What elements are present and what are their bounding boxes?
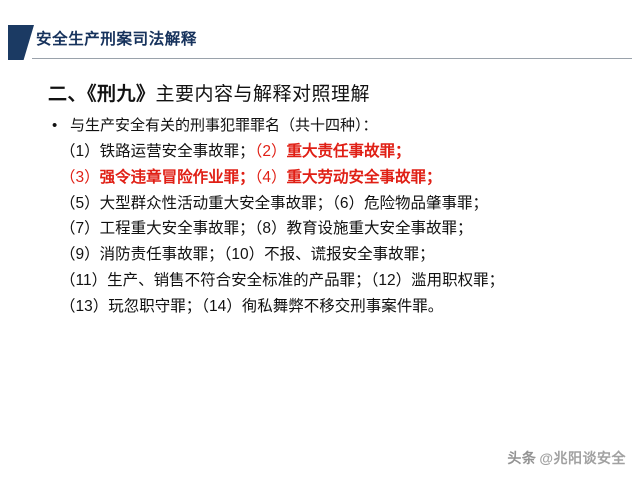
- watermark: 头条@兆阳谈安全: [507, 448, 626, 468]
- slide-body: 二、《刑九》主要内容与解释对照理解 •与生产安全有关的刑事犯罪罪名（共十四种）：…: [0, 82, 640, 320]
- crime-list-segment: （5）大型群众性活动重大安全事故罪；（6）危险物品肇事罪；: [60, 195, 488, 212]
- section-heading-strong: 二、《刑九》: [48, 84, 156, 105]
- crime-list-line: （9）消防责任事故罪；（10）不报、谎报安全事故罪；: [60, 242, 640, 268]
- watermark-handle: @兆阳谈安全: [539, 450, 626, 466]
- crime-list-segment: （3）: [60, 169, 100, 186]
- section-heading: 二、《刑九》主要内容与解释对照理解: [48, 82, 640, 108]
- crime-list-segment: （9）消防责任事故罪；（10）不报、谎报安全事故罪；: [60, 246, 435, 263]
- bullet-item: •与生产安全有关的刑事犯罪罪名（共十四种）：: [52, 114, 640, 138]
- crime-list-segment: （4）: [255, 169, 287, 186]
- crime-list-line: （3）强令违章冒险作业罪；（4）重大劳动安全事故罪；: [60, 165, 640, 191]
- slide-header-title: 安全生产刑案司法解释: [36, 27, 197, 49]
- crime-list-line: （7）工程重大安全事故罪；（8）教育设施重大安全事故罪；: [60, 216, 640, 242]
- crime-list-segment: （1）铁路运营安全事故罪；: [60, 143, 255, 160]
- watermark-logo: 头条: [507, 450, 536, 466]
- crime-list-segment: （2）: [255, 143, 287, 160]
- slide-canvas: 安全生产刑案司法解释 二、《刑九》主要内容与解释对照理解 •与生产安全有关的刑事…: [0, 0, 640, 480]
- crime-list-segment: 重大劳动安全事故罪；: [287, 169, 442, 186]
- crime-list-line: （5）大型群众性活动重大安全事故罪；（6）危险物品肇事罪；: [60, 191, 640, 217]
- header-divider: [32, 58, 632, 59]
- header-accent-shape: [8, 25, 34, 60]
- crime-list-segment: （7）工程重大安全事故罪；（8）教育设施重大安全事故罪；: [60, 220, 473, 237]
- section-heading-normal: 主要内容与解释对照理解: [156, 84, 371, 105]
- crime-list-line: （1）铁路运营安全事故罪；（2）重大责任事故罪；: [60, 139, 640, 165]
- slide-header: 安全生产刑案司法解释: [0, 24, 640, 64]
- crime-list-segment: （11）生产、销售不符合安全标准的产品罪；（12）滥用职权罪；: [60, 272, 504, 289]
- crime-list-segment: 重大责任事故罪；: [287, 143, 411, 160]
- bullet-item-label: 与生产安全有关的刑事犯罪罪名（共十四种）：: [70, 117, 378, 134]
- crime-list-line: （11）生产、销售不符合安全标准的产品罪；（12）滥用职权罪；: [60, 268, 640, 294]
- bullet-dot-icon: •: [52, 114, 70, 138]
- crime-name-list: （1）铁路运营安全事故罪；（2）重大责任事故罪；（3）强令违章冒险作业罪；（4）…: [60, 139, 640, 320]
- crime-list-line: （13）玩忽职守罪；（14）徇私舞弊不移交刑事案件罪。: [60, 294, 640, 320]
- crime-list-segment: （13）玩忽职守罪；（14）徇私舞弊不移交刑事案件罪。: [60, 298, 443, 315]
- crime-list-segment: 强令违章冒险作业罪；: [100, 169, 255, 186]
